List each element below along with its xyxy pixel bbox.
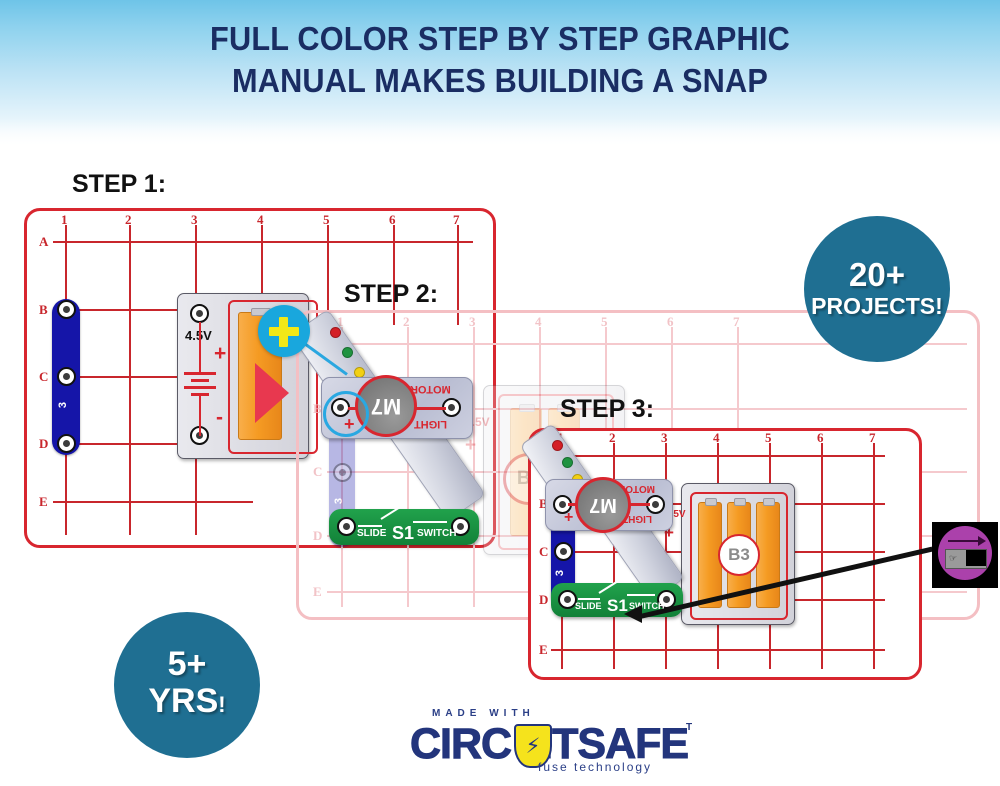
red-forward-arrow [255,363,289,423]
page-title-line-1: FULL COLOR STEP BY STEP GRAPHIC [35,18,965,60]
wire-length-label: 3 [57,402,69,408]
snap-d1 [57,434,76,453]
grid-row-e [551,649,885,651]
projects-badge-line-2: PROJECTS! [811,292,943,320]
row-label-a: A [39,235,48,248]
age-badge: 5+ YRS! [114,612,260,758]
grid-col-7 [873,443,875,669]
switch-zoom-inset: ☞ [932,522,998,588]
battery-plus-label: + [214,342,226,366]
col-label-7: 7 [733,315,740,328]
switch-id-label: S1 [392,523,414,544]
grid-col-6 [821,443,823,669]
row-label-c: C [539,545,548,558]
col-label-6: 6 [389,213,396,226]
col-label-6: 6 [667,315,674,328]
grid-col-2 [129,225,131,535]
switch-contact-left [358,525,382,527]
battery-minus-label: - [216,406,223,430]
row-label-b: B [39,303,48,316]
step-1-label: STEP 1: [72,170,166,199]
inset-arrow-line [948,540,980,542]
grid-row-e [53,501,253,503]
switch-contact-right [627,594,655,596]
snap-c1 [333,463,352,482]
age-badge-line-2: YRS! [148,682,225,724]
col-label-5: 5 [601,315,608,328]
plus-bar-v [279,317,288,347]
motor-plus-label: + [564,509,573,527]
logo-brand-left: CIRC [410,720,511,768]
row-label-d: D [313,529,322,542]
snap-c1 [554,542,573,561]
grid-col-2 [613,443,615,669]
schematic-wire-top [199,322,201,372]
wire-length-label: 3 [554,570,566,576]
lightning-bolt-icon: ⚡ [526,736,541,757]
motor-top-label: MOTOR [410,383,451,395]
propeller-dot-2 [562,457,573,468]
switch-left-label: SLIDE [575,601,602,611]
col-label-7: 7 [453,213,460,226]
switch-left-label: SLIDE [357,528,386,539]
col-label-5: 5 [323,213,330,226]
inset-switch-dark [966,550,986,566]
row-label-e: E [313,585,322,598]
propeller-dot-1 [552,440,563,451]
col-label-4: 4 [713,431,720,444]
snap-switch-left [337,517,356,536]
col-label-7: 7 [869,431,876,444]
wire-length-label: 3 [333,498,345,504]
motor-symbol: M7 [575,477,631,533]
circuitsafe-logo: MADE WITH CIRCUITSAFE ⚡ T fuse technolog… [410,708,710,778]
projects-badge: 20+ PROJECTS! [804,216,950,362]
row-label-c: C [39,370,48,383]
col-label-3: 3 [191,213,198,226]
col-label-1: 1 [61,213,68,226]
col-label-2: 2 [609,431,616,444]
age-badge-line-1: 5+ [168,646,207,682]
step-3-label: STEP 3: [560,395,654,424]
snap-c1 [57,367,76,386]
header-title-block: FULL COLOR STEP BY STEP GRAPHIC MANUAL M… [0,18,1000,102]
snap-b1 [57,300,76,319]
col-label-3: 3 [469,315,476,328]
hand-pointer-icon: ☞ [949,553,957,564]
header-white-band [0,148,810,162]
inset-arrow-head [978,536,986,546]
switch-lever [598,579,619,593]
projects-badge-line-1: 20+ [849,258,905,292]
page-title-line-2: MANUAL MAKES BUILDING A SNAP [35,60,965,102]
logo-made-with: MADE WITH [432,708,535,719]
row-label-e: E [539,643,548,656]
col-label-6: 6 [817,431,824,444]
slide-switch: SLIDE S1 SWITCH [329,509,479,545]
grid-col-2 [407,327,409,607]
col-label-2: 2 [125,213,132,226]
motor-bottom-label: LIGHT [414,418,447,430]
switch-lever [380,504,403,519]
callout-plus-badge [258,305,310,357]
grid-row-a [53,241,473,243]
step-3-board: 1 2 3 4 5 6 7 B C D E B3 4.5V + - 3 MOTO… [528,428,922,680]
row-label-d: D [539,593,548,606]
row-label-c: C [313,465,322,478]
col-label-2: 2 [403,315,410,328]
switch-contact-right [413,521,447,523]
col-label-5: 5 [765,431,772,444]
schematic-wire-bottom [199,396,201,436]
schematic-plate-2 [191,379,209,382]
inset-switch-body: ☞ [945,549,987,569]
propeller-dot-2 [342,347,353,358]
switch-right-label: SWITCH [417,528,456,539]
logo-tagline: fuse technology [538,760,652,774]
grid-col-3 [473,327,475,607]
propeller-dot-1 [330,327,341,338]
switch-contact-left [578,598,600,600]
grid-row-a [551,455,885,457]
age-badge-yrs: YRS [148,682,218,720]
schematic-plate-1 [184,372,216,375]
battery-id-badge: B3 [718,534,760,576]
col-label-4: 4 [535,315,542,328]
col-label-3: 3 [661,431,668,444]
row-label-d: D [39,437,48,450]
highlight-ring [323,391,369,437]
snap-battery-top [190,304,209,323]
col-label-4: 4 [257,213,264,226]
row-label-e: E [39,495,48,508]
step-2-label: STEP 2: [344,280,438,309]
inset-pointer-head [624,605,642,623]
schematic-plate-3 [184,386,216,389]
age-badge-suffix: ! [218,692,225,717]
logo-trademark: T [686,722,692,733]
